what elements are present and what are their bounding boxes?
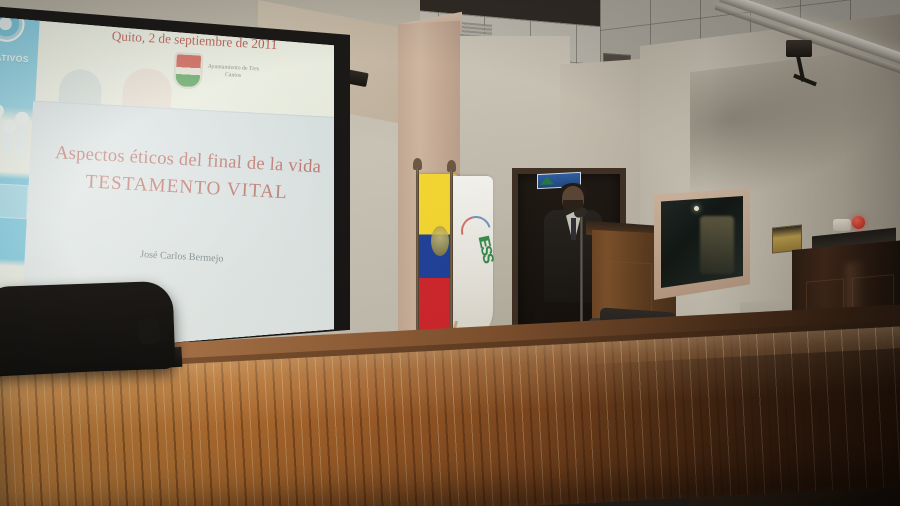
alarm-housing: [833, 219, 851, 231]
slide-author: José Carlos Bermejo: [25, 244, 334, 272]
ceiling-speaker-icon: [786, 40, 812, 57]
sidebar-label: DE ATIVOS: [0, 51, 36, 66]
equipment-case-handle: [137, 317, 162, 345]
iess-flag-cloth: IESS: [453, 176, 493, 344]
booth-window-reflection: [700, 216, 734, 274]
presenter-tie: [571, 218, 576, 240]
wall-shadow: [690, 48, 890, 203]
iess-emblem-text: IESS: [452, 234, 498, 274]
red-alarm-beacon-icon: [852, 216, 865, 229]
booth-indicator-light: [694, 206, 699, 211]
microphone-stand: [580, 214, 583, 322]
sidebar-logo-icon: [0, 16, 26, 43]
auditorium-photo: DE ATIVOS 2011 CUIDADOS PALIATIVOS Quito…: [0, 0, 900, 506]
sidebar-photo-block: [0, 182, 29, 219]
